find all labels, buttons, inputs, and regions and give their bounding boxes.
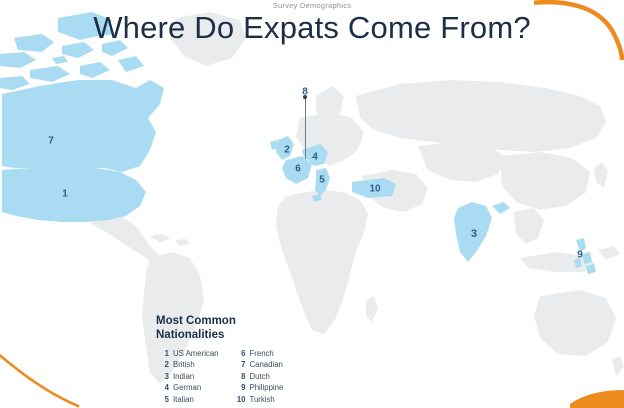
list-item: 9 Philippine: [233, 383, 284, 393]
marker-6-french: 6: [295, 164, 301, 175]
legend-nationality: British: [173, 360, 195, 370]
marker-4-german: 4: [312, 152, 318, 163]
eyebrow-label: Survey Demographics: [0, 1, 624, 10]
legend-rank: 8: [233, 372, 246, 382]
marker-5-italian: 5: [319, 175, 325, 186]
legend-title: Most Common Nationalities: [156, 315, 346, 342]
legend-nationality: Turkish: [250, 395, 275, 405]
legend-rank: 1: [156, 349, 169, 359]
legend-nationality: German: [173, 383, 201, 393]
list-item: 10 Turkish: [233, 395, 284, 405]
infographic-page: Survey Demographics Where Do Expats Come…: [0, 0, 624, 408]
legend-rank: 7: [233, 360, 246, 370]
list-item: 5 Italian: [156, 395, 219, 405]
legend-column-left: 1 US American 2 British 3 Indian 4 Germa…: [156, 349, 219, 405]
marker-7-canadian: 7: [48, 136, 54, 147]
legend: Most Common Nationalities 1 US American …: [156, 315, 346, 405]
legend-nationality: Dutch: [250, 372, 270, 382]
list-item: 1 US American: [156, 349, 219, 359]
legend-nationality: Italian: [173, 395, 194, 405]
marker-3-indian: 3: [471, 228, 477, 240]
page-title: Where Do Expats Come From?: [0, 10, 624, 46]
legend-nationality: French: [250, 349, 274, 359]
legend-nationality: US American: [173, 349, 219, 359]
marker-8-dutch: 8: [302, 87, 308, 98]
list-item: 7 Canadian: [233, 360, 284, 370]
legend-rank: 2: [156, 360, 169, 370]
marker-9-philippine: 9: [577, 250, 583, 261]
marker-1-us-american: 1: [62, 189, 68, 200]
marker-10-turkish: 10: [369, 184, 380, 195]
legend-rank: 4: [156, 383, 169, 393]
list-item: 8 Dutch: [233, 372, 284, 382]
country-usa: [2, 168, 146, 222]
legend-rank: 3: [156, 372, 169, 382]
legend-rank: 9: [233, 383, 246, 393]
legend-rank: 10: [233, 395, 246, 405]
legend-nationality: Indian: [173, 372, 194, 382]
list-item: 6 French: [233, 349, 284, 359]
marker-2-british: 2: [284, 145, 290, 156]
legend-nationality: Canadian: [250, 360, 283, 370]
legend-column-right: 6 French 7 Canadian 8 Dutch 9 Philippine…: [233, 349, 284, 405]
list-item: 4 German: [156, 383, 219, 393]
list-item: 3 Indian: [156, 372, 219, 382]
legend-rank: 5: [156, 395, 169, 405]
legend-rank: 6: [233, 349, 246, 359]
leader-line-dutch: [305, 97, 306, 159]
country-canada: [2, 80, 164, 172]
legend-nationality: Philippine: [250, 383, 284, 393]
list-item: 2 British: [156, 360, 219, 370]
